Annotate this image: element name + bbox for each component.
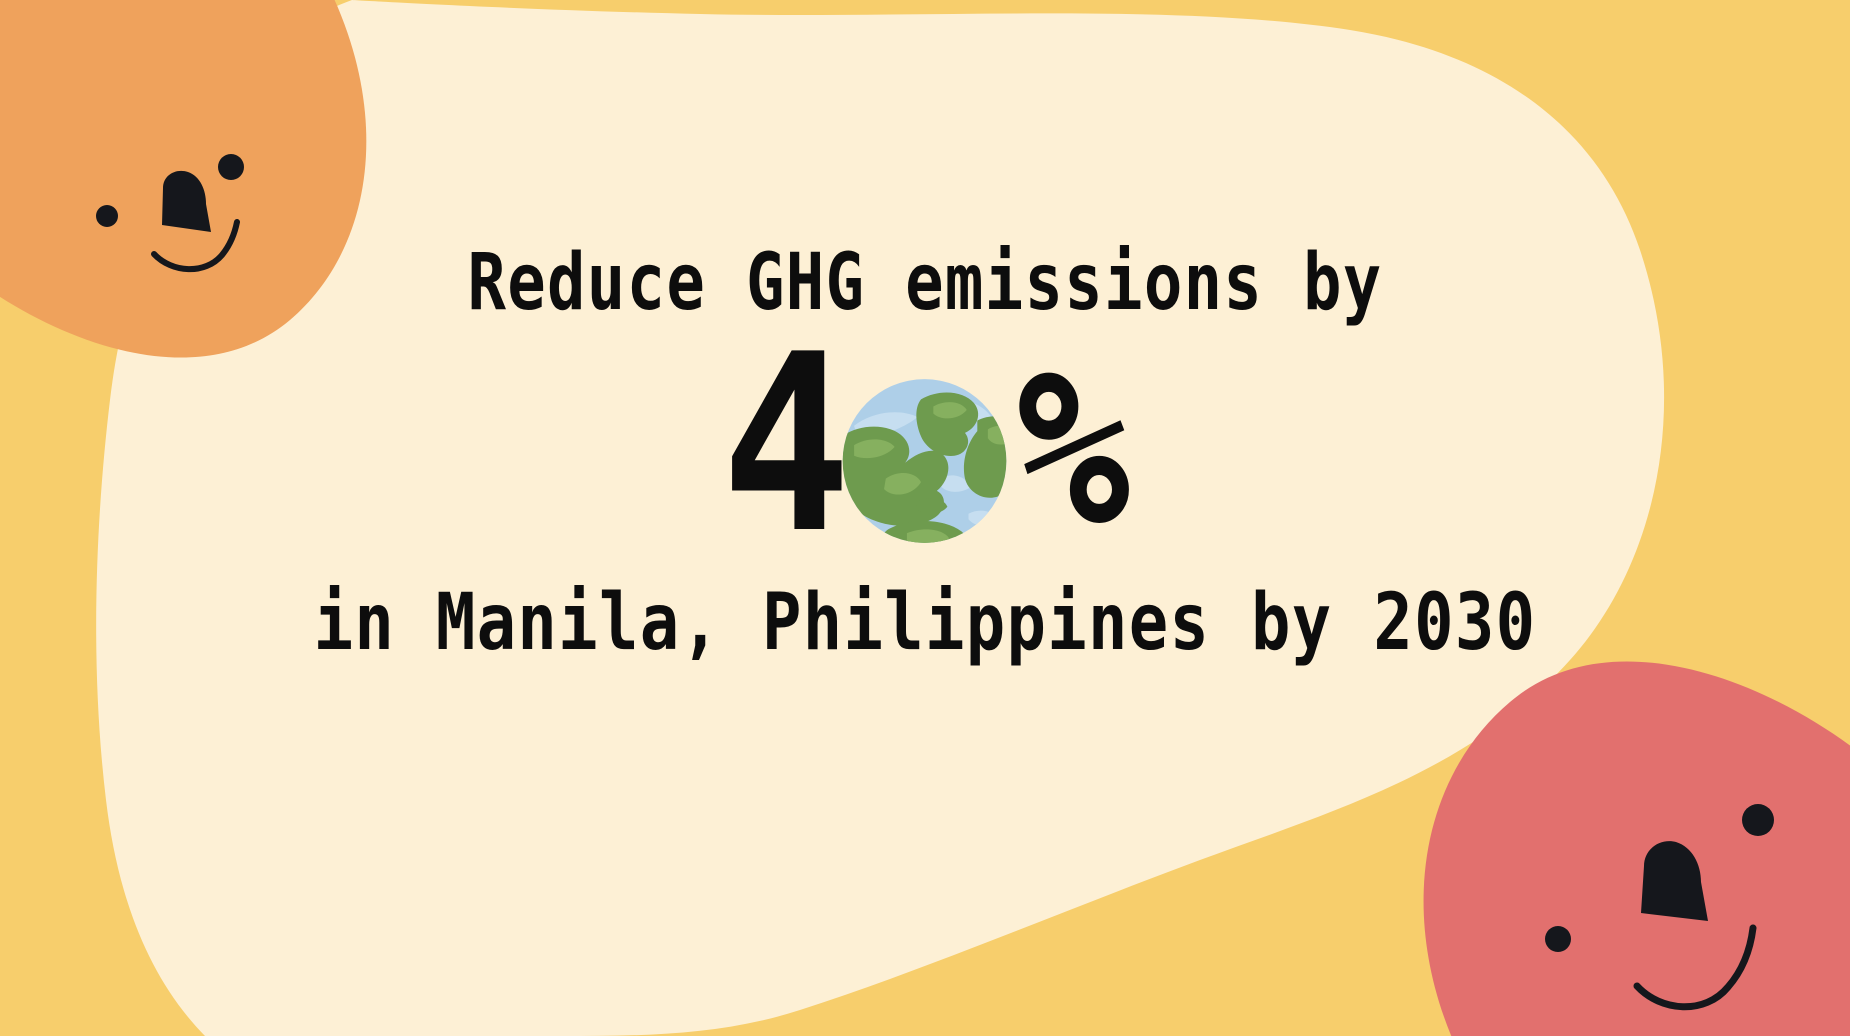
red-face-left-eye-icon	[1545, 926, 1571, 952]
red-face-right-eye-icon	[1742, 804, 1774, 836]
poster-slide: Reduce GHG emissions by 4	[0, 0, 1850, 1036]
red-smiley-face	[0, 0, 1850, 1036]
red-face-shape	[1424, 661, 1850, 1036]
